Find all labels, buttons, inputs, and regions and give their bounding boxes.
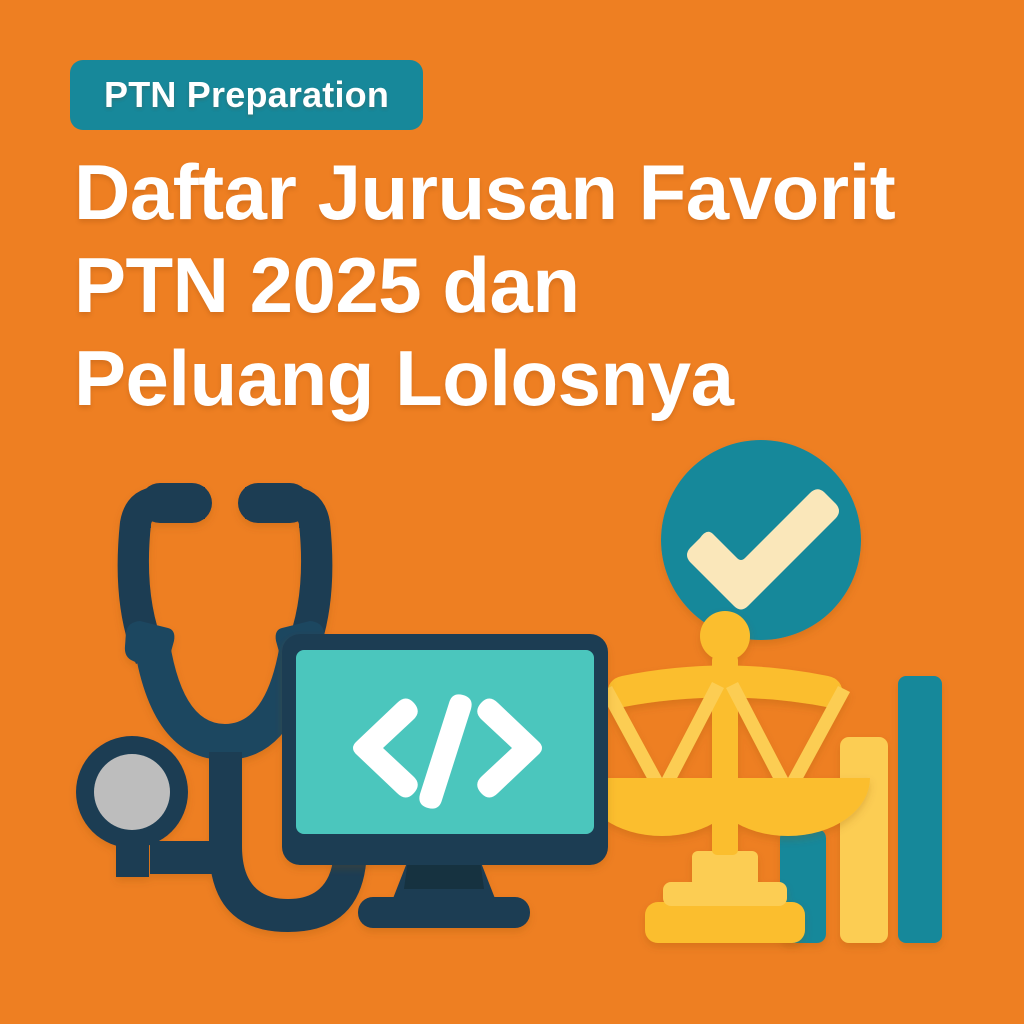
- scale-base-bottom: [645, 902, 805, 943]
- illustration-group: [0, 0, 1024, 1024]
- scale-pivot-knob: [700, 611, 750, 661]
- check-circle-background: [661, 440, 861, 640]
- balance-scale-icon: [580, 611, 870, 943]
- bar-chart-bar-3: [898, 676, 942, 943]
- stethoscope-earpiece-right: [238, 483, 310, 523]
- check-circle-icon: [661, 440, 861, 640]
- monitor-base: [358, 897, 530, 928]
- stethoscope-earpiece-left: [140, 483, 212, 523]
- poster-canvas: PTN Preparation Daftar Jurusan Favorit P…: [0, 0, 1024, 1024]
- stethoscope-diaphragm: [94, 754, 170, 830]
- scale-base-top: [692, 851, 758, 887]
- stethoscope-collar-left: [125, 621, 175, 672]
- bar-chart-bar-2: [840, 737, 888, 943]
